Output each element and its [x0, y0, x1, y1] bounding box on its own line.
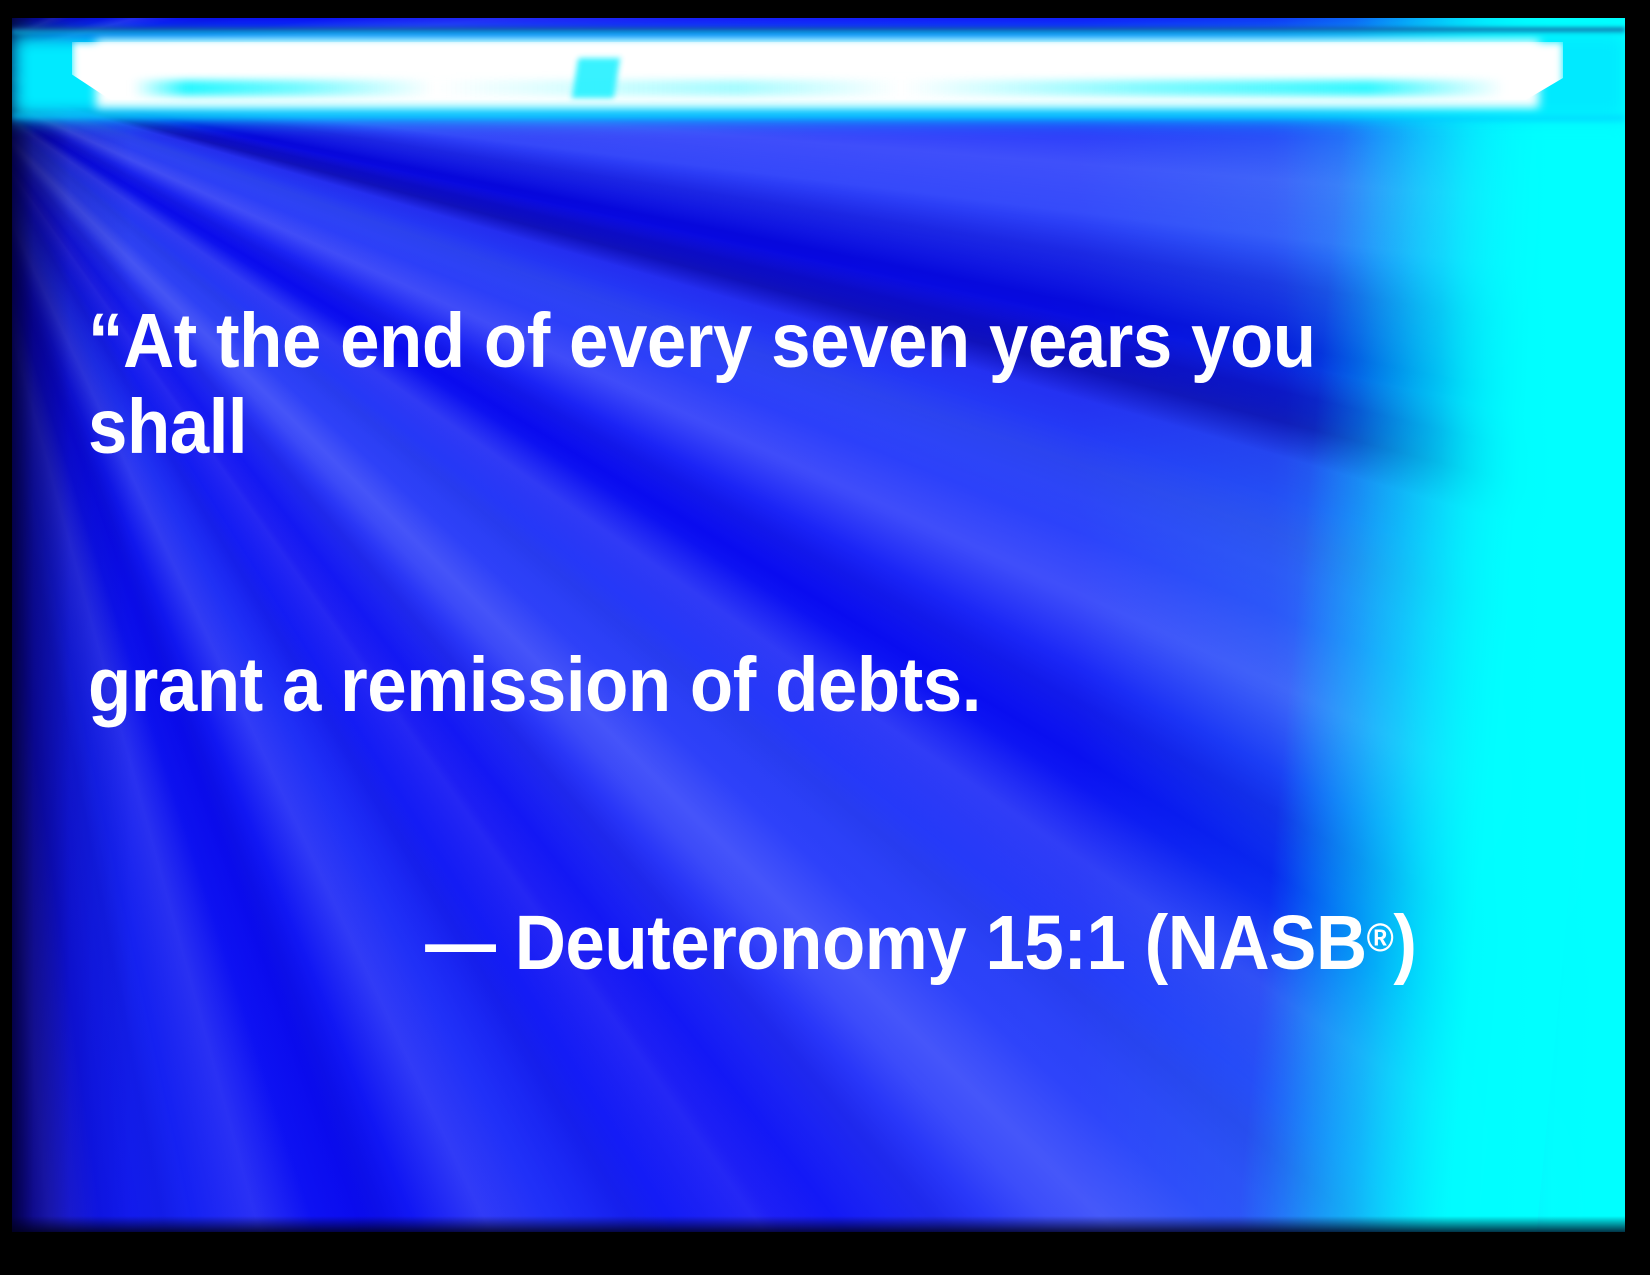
background-bottom-vignette [12, 1216, 1625, 1232]
attribution-close-paren: ) [1393, 900, 1416, 986]
slide-canvas: “At the end of every seven years you sha… [12, 18, 1625, 1232]
frame-border-right [1625, 0, 1650, 1275]
header-light-band [12, 18, 1625, 138]
frame-border-bottom [0, 1232, 1650, 1275]
attribution-reference: — Deuteronomy 15:1 (NASB [425, 900, 1367, 986]
frame-border-left [0, 0, 12, 1275]
band-white-core-2 [96, 40, 1539, 108]
band-top-edge [12, 28, 1625, 35]
band-inner-cyan-streak [132, 80, 1505, 96]
scripture-slide: “At the end of every seven years you sha… [0, 0, 1650, 1275]
frame-border-top [0, 0, 1650, 12]
registered-trademark-icon: ® [1367, 916, 1394, 960]
verse-line-2: grant a remission of debts. [88, 642, 1422, 728]
band-cyan-notch [572, 58, 620, 98]
band-bottom-edge [12, 114, 1625, 122]
verse-attribution: — Deuteronomy 15:1 (NASB®) [88, 900, 1422, 986]
verse-text-block: “At the end of every seven years you sha… [88, 126, 1422, 1158]
verse-line-1: “At the end of every seven years you sha… [88, 298, 1422, 470]
